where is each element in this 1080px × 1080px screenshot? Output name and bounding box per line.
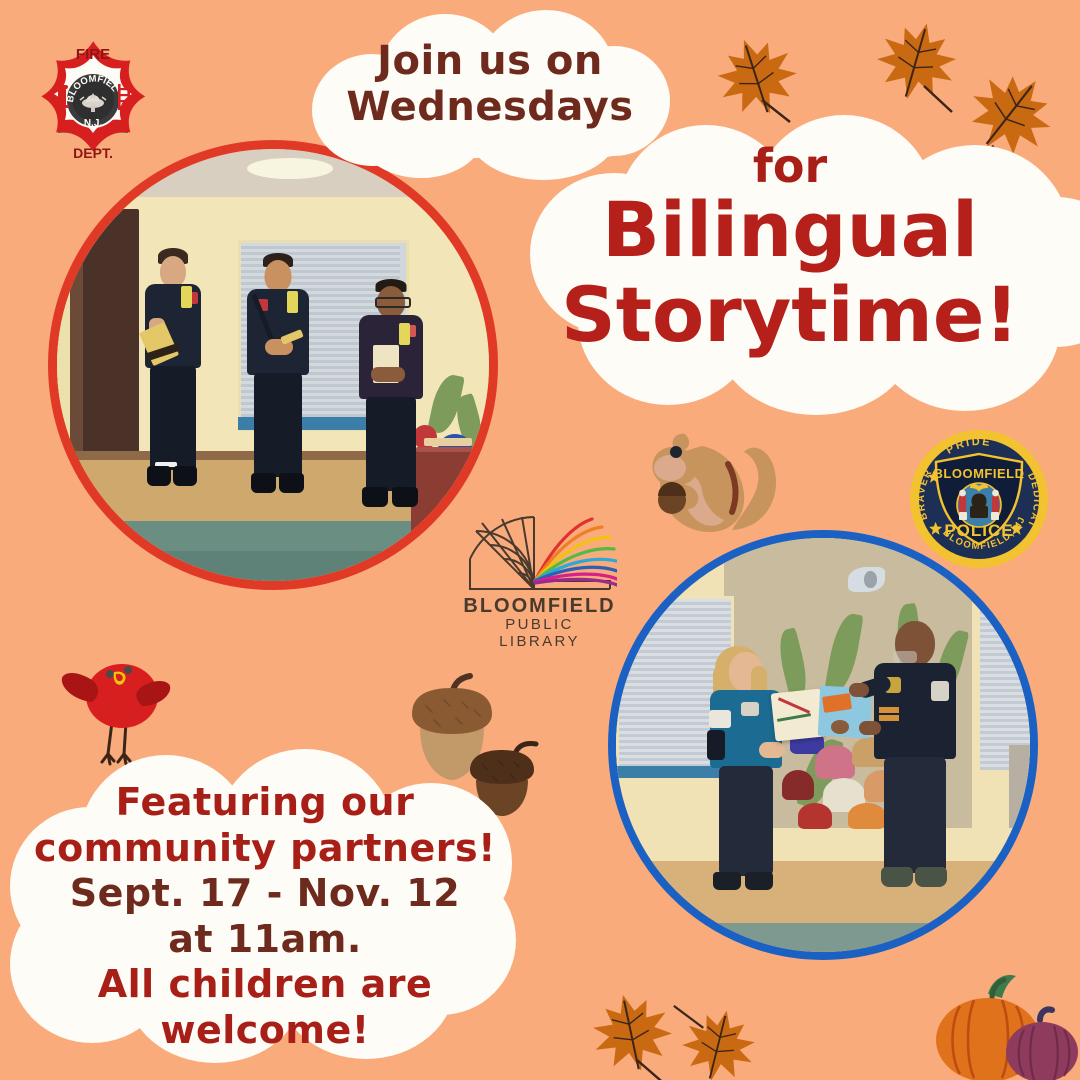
maple-leaf-icon (866, 16, 966, 116)
cloud-info-line6: welcome! (10, 1008, 520, 1054)
firefighters-photo (48, 140, 498, 590)
police-officers-photo (608, 530, 1038, 960)
maple-leaf-icon (706, 30, 806, 125)
cloud-info-line2: community partners! (10, 826, 520, 872)
poster-canvas: FIRE DEPT. N.J. BLOOMFIELD (0, 0, 1080, 1080)
svg-text:BLOOMFIELD: BLOOMFIELD (934, 466, 1025, 481)
cloud-title-line1: Bilingual (530, 187, 1050, 272)
cloud-info-line3: Sept. 17 - Nov. 12 (10, 871, 520, 917)
cloud-bilingual-storytime: for Bilingual Storytime! (530, 115, 1080, 415)
cloud-info-line5: All children are (10, 962, 520, 1008)
cloud-join-line1: Join us on (300, 40, 680, 83)
open-book-fan-icon (462, 515, 617, 597)
squirrel-with-acorn-icon (636, 412, 786, 542)
svg-text:FIRE: FIRE (76, 46, 110, 63)
bloomfield-public-library-logo: BLOOMFIELD PUBLIC LIBRARY (462, 515, 617, 635)
maple-leaf-icon (668, 1004, 768, 1080)
cloud-title-line2: Storytime! (530, 272, 1050, 357)
cloud-info-line1: Featuring our (10, 780, 520, 826)
pumpkin-purple-icon (1004, 1004, 1080, 1080)
cloud-join-line2: Wednesdays (300, 86, 680, 129)
library-logo-name-line1: BLOOMFIELD (462, 595, 617, 618)
svg-text:N.J.: N.J. (84, 118, 103, 129)
cloud-info-line4: at 11am. (10, 917, 520, 963)
cloud-event-info: Featuring our community partners! Sept. … (10, 745, 520, 1070)
library-logo-name-line2: PUBLIC LIBRARY (462, 616, 617, 650)
